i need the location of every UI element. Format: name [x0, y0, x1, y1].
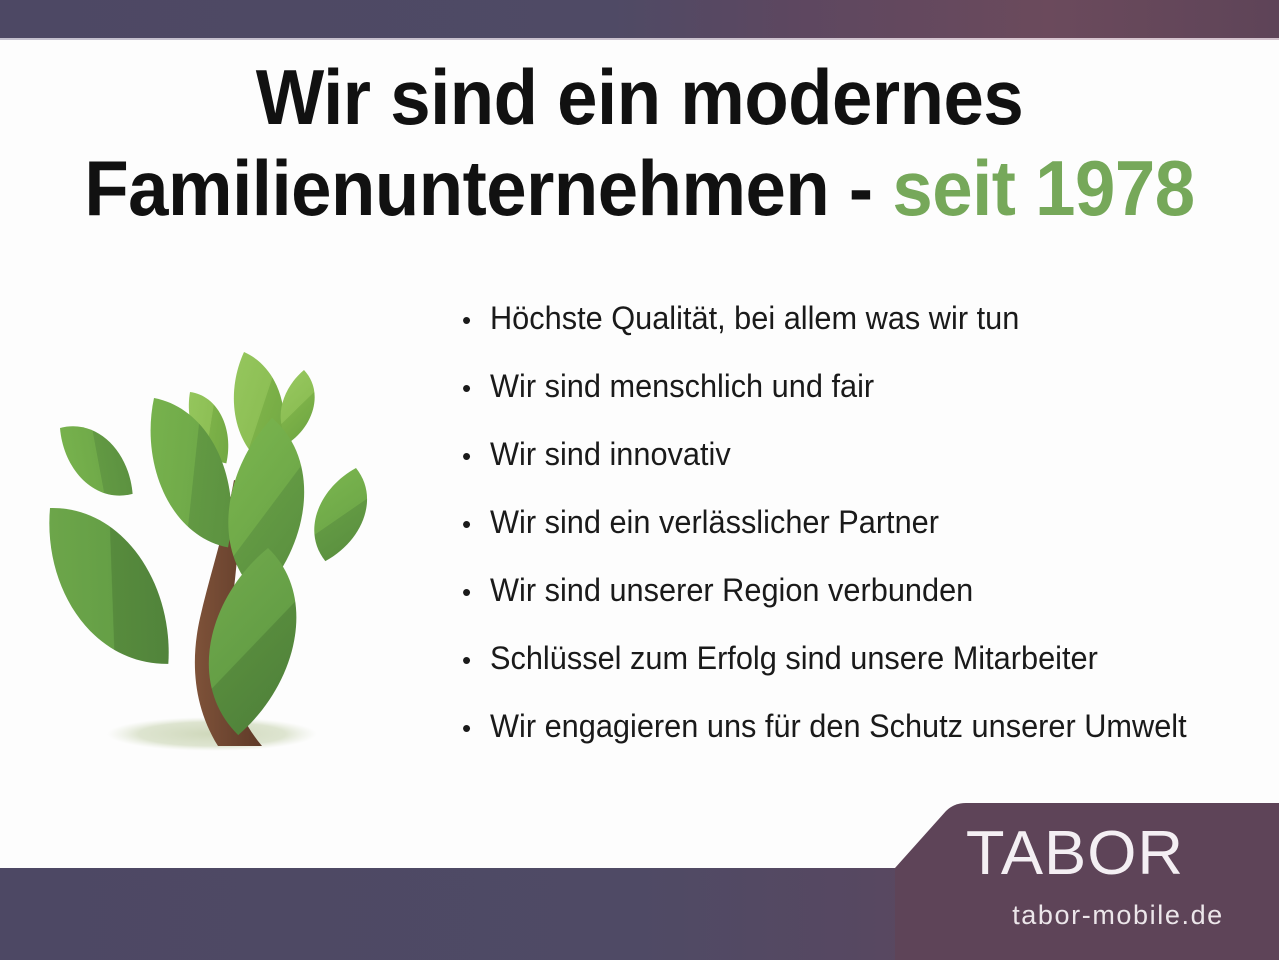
list-item-label: Wir sind innovativ — [490, 436, 731, 473]
bullet-marker-icon: • — [462, 375, 490, 401]
bullet-marker-icon: • — [462, 443, 490, 469]
list-item: • Schlüssel zum Erfolg sind unsere Mitar… — [462, 640, 1272, 708]
list-item-label: Wir sind menschlich und fair — [490, 368, 874, 405]
slide-canvas: Wir sind ein modernes Familienunternehme… — [0, 0, 1279, 960]
list-item: • Wir sind unserer Region verbunden — [462, 572, 1272, 640]
list-item-label: Wir sind unserer Region verbunden — [490, 572, 973, 609]
list-item-label: Höchste Qualität, bei allem was wir tun — [490, 300, 1019, 337]
top-accent-hairline — [0, 38, 1279, 40]
title-line-1: Wir sind ein modernes — [45, 56, 1234, 139]
list-item-label: Wir engagieren uns für den Schutz unsere… — [490, 708, 1187, 745]
title-line-2-prefix: Familienunternehmen - — [84, 144, 892, 232]
title-accent-year: seit 1978 — [892, 144, 1194, 232]
list-item: • Wir sind menschlich und fair — [462, 368, 1272, 436]
list-item-label: Wir sind ein verlässlicher Partner — [490, 504, 939, 541]
bullet-marker-icon: • — [462, 511, 490, 537]
bullet-marker-icon: • — [462, 647, 490, 673]
list-item: • Höchste Qualität, bei allem was wir tu… — [462, 300, 1272, 368]
tree-icon — [22, 332, 442, 762]
logo-wordmark: TABOR — [966, 818, 1184, 889]
logo-url-label: tabor-mobile.de — [1012, 900, 1224, 931]
list-item: • Wir sind innovativ — [462, 436, 1272, 504]
tree-leaf — [50, 409, 143, 514]
bullet-marker-icon: • — [462, 715, 490, 741]
list-item: • Wir engagieren uns für den Schutz unse… — [462, 708, 1272, 776]
list-item: • Wir sind ein verlässlicher Partner — [462, 504, 1272, 572]
title-line-2: Familienunternehmen - seit 1978 — [45, 147, 1234, 230]
page-title: Wir sind ein modernes Familienunternehme… — [0, 56, 1279, 229]
bullet-list: • Höchste Qualität, bei allem was wir tu… — [462, 300, 1272, 776]
top-accent-bar — [0, 0, 1279, 38]
list-item-label: Schlüssel zum Erfolg sind unsere Mitarbe… — [490, 640, 1098, 677]
tree-leaf — [297, 462, 385, 568]
bullet-marker-icon: • — [462, 579, 490, 605]
tree-leaf — [28, 481, 189, 691]
bullet-marker-icon: • — [462, 307, 490, 333]
